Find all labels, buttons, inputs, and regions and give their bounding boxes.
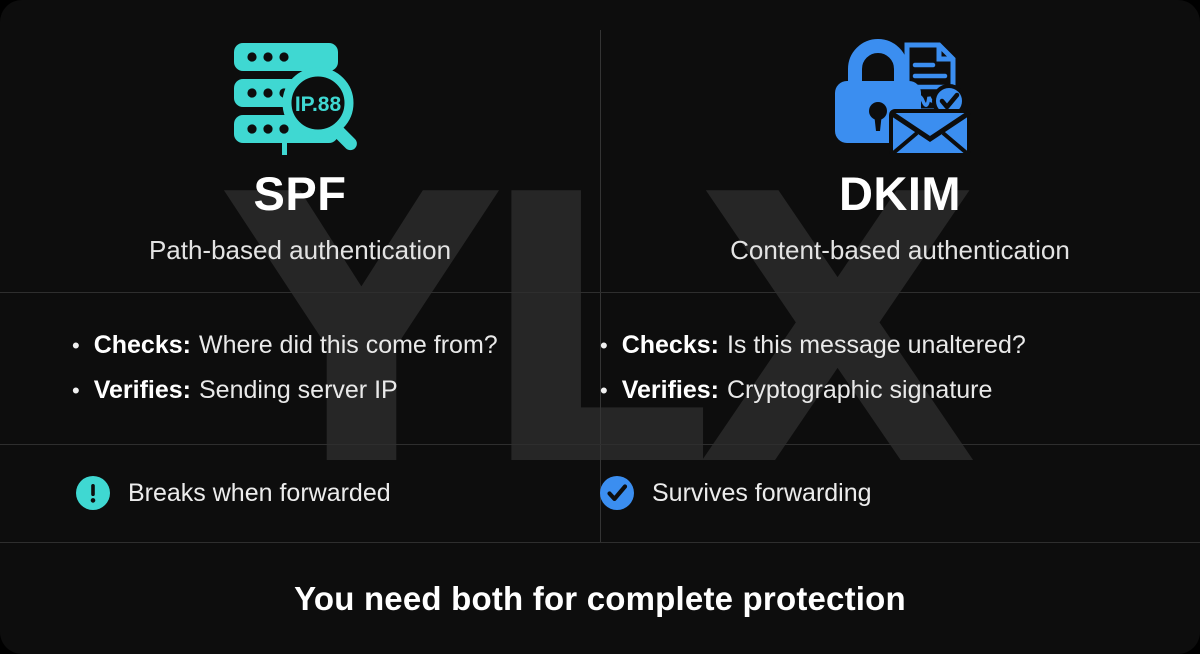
bullets-row: • Checks: Where did this come from? • Ve… <box>0 292 1200 444</box>
bullet-item: • Verifies: Cryptographic signature <box>600 378 1200 403</box>
header-row: IP.88 SPF Path-based authentication <box>0 0 1200 292</box>
dkim-icon-wrap <box>825 34 975 156</box>
bullet-dot-icon: • <box>72 335 80 357</box>
footer-tagline: You need both for complete protection <box>294 582 906 615</box>
status-row: Breaks when forwarded Survives forwardin… <box>0 444 1200 542</box>
bullet-dot-icon: • <box>600 380 608 402</box>
column-title-dkim: DKIM <box>839 170 961 217</box>
column-header-dkim: DKIM Content-based authentication <box>600 0 1200 292</box>
bullet-item: • Checks: Where did this come from? <box>72 333 532 358</box>
bullet-value: Sending server IP <box>199 378 398 403</box>
column-subtitle-dkim: Content-based authentication <box>730 237 1070 263</box>
column-title-spf: SPF <box>254 170 347 217</box>
column-header-spf: IP.88 SPF Path-based authentication <box>0 0 600 292</box>
bullet-dot-icon: • <box>72 380 80 402</box>
exclamation-circle-icon <box>76 476 110 510</box>
column-subtitle-spf: Path-based authentication <box>149 237 451 263</box>
server-magnifier-icon: IP.88 <box>226 35 374 155</box>
spf-icon-badge-label: IP.88 <box>295 93 342 116</box>
bullet-value: Cryptographic signature <box>727 378 992 403</box>
bullet-item: • Verifies: Sending server IP <box>72 378 532 403</box>
bullet-label: Checks: <box>622 333 719 358</box>
bullet-label: Verifies: <box>94 378 191 403</box>
bullet-value: Is this message unaltered? <box>727 333 1026 358</box>
bullet-value: Where did this come from? <box>199 333 498 358</box>
status-text-spf: Breaks when forwarded <box>128 481 391 506</box>
status-inner-dkim: Survives forwarding <box>600 476 872 510</box>
bullet-dot-icon: • <box>600 335 608 357</box>
bullets-spf: • Checks: Where did this come from? • Ve… <box>0 292 532 444</box>
footer: You need both for complete protection <box>0 542 1200 654</box>
comparison-card: YLX <box>0 0 1200 654</box>
status-text-dkim: Survives forwarding <box>652 481 872 506</box>
lock-document-envelope-icon <box>825 35 975 155</box>
bullet-item: • Checks: Is this message unaltered? <box>600 333 1200 358</box>
status-dkim: Survives forwarding <box>530 444 1200 542</box>
check-circle-icon <box>600 476 634 510</box>
status-inner-spf: Breaks when forwarded <box>76 476 391 510</box>
spf-icon-wrap: IP.88 <box>226 34 374 156</box>
bullet-label: Verifies: <box>622 378 719 403</box>
bullets-dkim: • Checks: Is this message unaltered? • V… <box>532 292 1200 444</box>
bullet-label: Checks: <box>94 333 191 358</box>
status-spf: Breaks when forwarded <box>0 444 530 542</box>
